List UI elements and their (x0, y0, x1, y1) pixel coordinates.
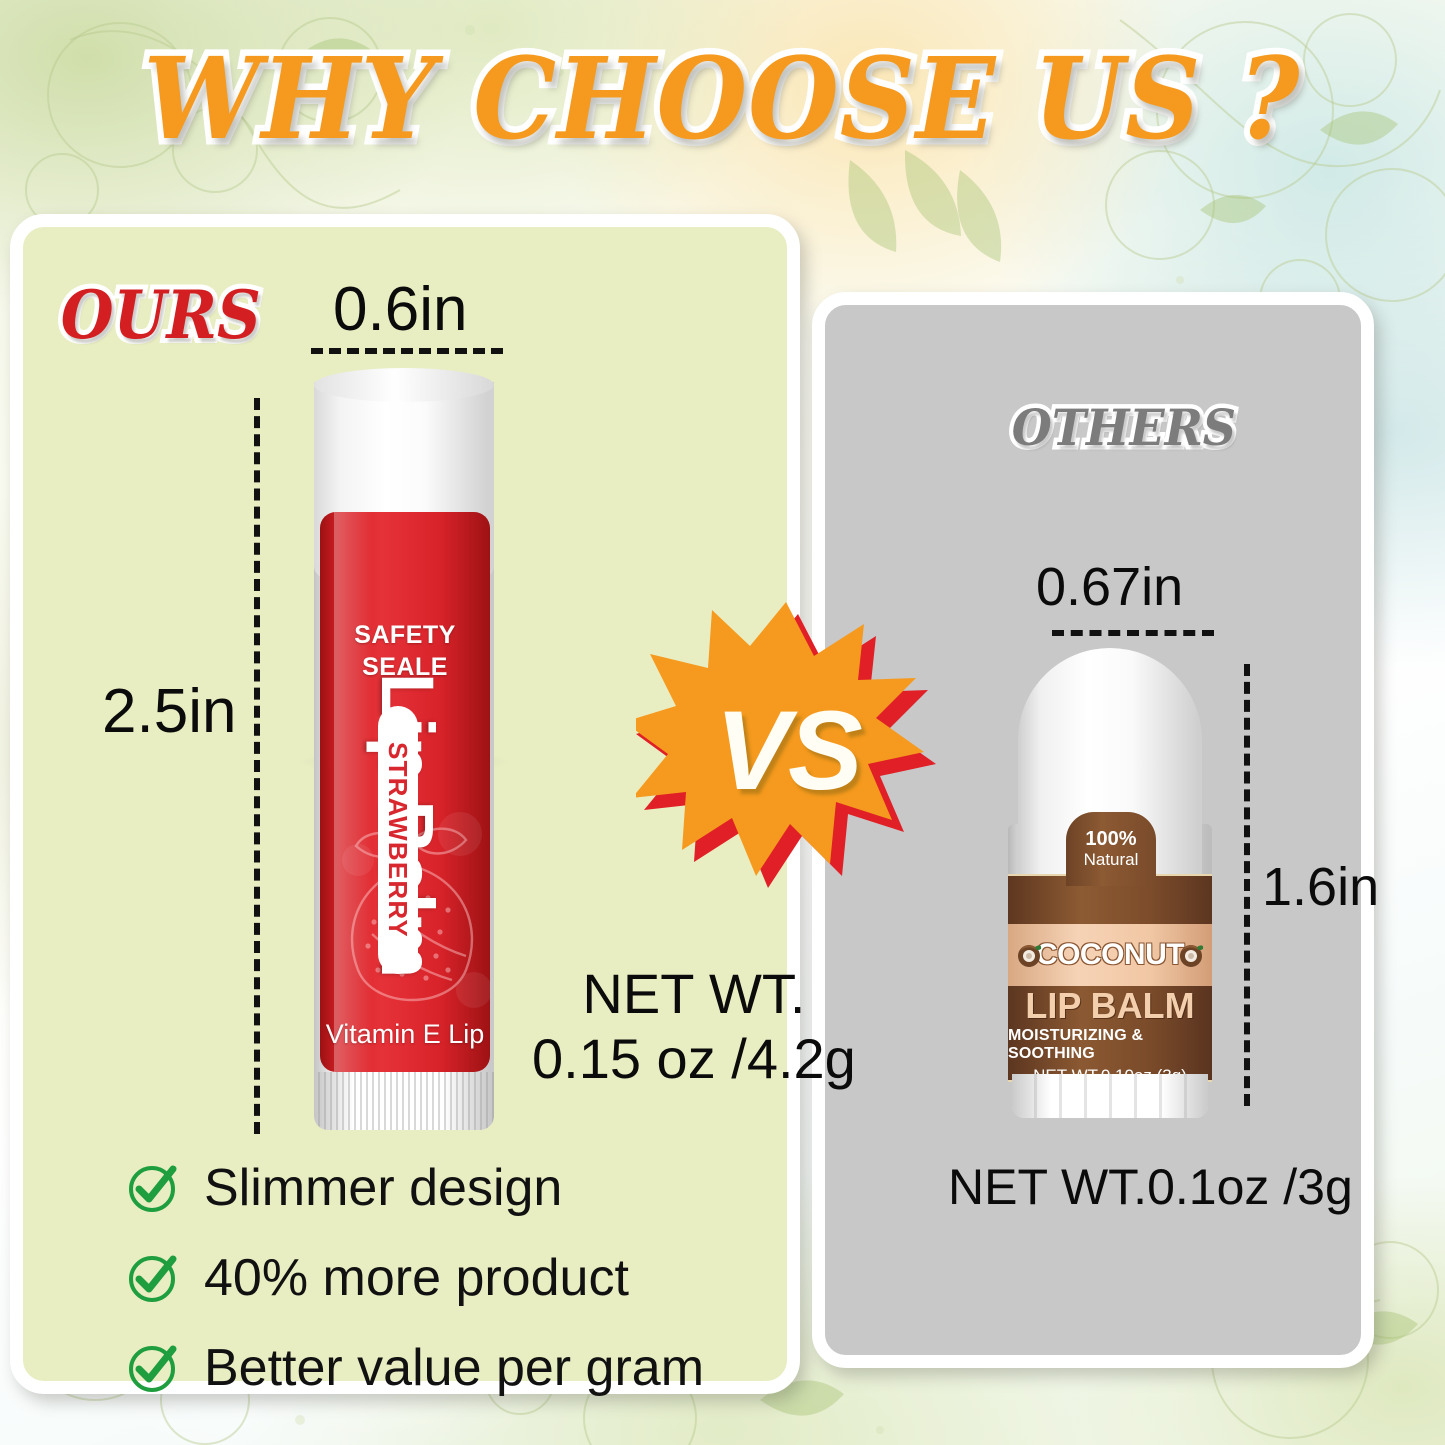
tube-label: SAFETY SEALE Lip Balm STRAWBERRY Vitamin… (320, 512, 490, 1072)
ours-heading: OURS (61, 276, 261, 354)
others-heading: OTHERS (1012, 398, 1236, 457)
check-circle-icon (126, 1252, 178, 1304)
ours-height-label: 2.5in (102, 676, 236, 747)
vs-badge: VS (636, 596, 936, 896)
coconut-product-name: LIP BALM (1025, 988, 1194, 1024)
others-width-label: 0.67in (1036, 556, 1183, 618)
tube-cap-top-ellipse (314, 368, 494, 402)
ours-width-dashed-line (311, 348, 503, 354)
ours-width-label: 0.6in (333, 274, 467, 345)
label-band-flavor: COCONUT (1008, 924, 1212, 986)
natural-badge-line1: 100% (1085, 829, 1136, 850)
ours-product-image: SAFETY SEALE Lip Balm STRAWBERRY Vitamin… (306, 382, 502, 1132)
natural-badge: 100% Natural (1066, 812, 1156, 886)
coconut-base-shading (1012, 1074, 1208, 1118)
label-band-bottom: LIP BALM MOISTURIZING & SOOTHING NET WT.… (1008, 986, 1212, 1082)
others-height-label: 1.6in (1262, 856, 1379, 918)
ours-net-weight: NET WT. 0.15 oz /4.2g (532, 962, 856, 1092)
coconut-icon (1016, 942, 1042, 968)
flavor-badge-text: STRAWBERRY (383, 742, 414, 938)
benefit-label: 40% more product (204, 1248, 629, 1308)
others-height-dashed-line (1244, 664, 1250, 1106)
list-item: 40% more product (126, 1236, 766, 1320)
benefit-label: Slimmer design (204, 1158, 562, 1218)
others-product-image: 100% Natural COCONUT LIP BALM MOISTURIZI… (1004, 648, 1216, 1100)
others-net-weight: NET WT.0.1oz /3g (948, 1158, 1353, 1216)
vs-label: VS (638, 600, 938, 900)
coconut-flavor-text: COCONUT (1036, 938, 1184, 972)
ours-benefits-list: Slimmer design 40% more product Better v… (126, 1146, 766, 1416)
tube-tagline: Vitamin E Lip (320, 1019, 490, 1050)
ours-height-dashed-line (254, 398, 260, 1134)
benefit-label: Better value per gram (204, 1338, 704, 1398)
check-circle-icon (126, 1342, 178, 1394)
coconut-icon (1178, 942, 1204, 968)
list-item: Better value per gram (126, 1326, 766, 1410)
check-circle-icon (126, 1162, 178, 1214)
others-width-dashed-line (1052, 630, 1214, 636)
tube-base-shading (314, 1072, 494, 1130)
natural-badge-line2: Natural (1084, 851, 1139, 869)
coconut-subtitle: MOISTURIZING & SOOTHING (1008, 1027, 1212, 1063)
list-item: Slimmer design (126, 1146, 766, 1230)
flavor-badge: STRAWBERRY (378, 706, 418, 974)
